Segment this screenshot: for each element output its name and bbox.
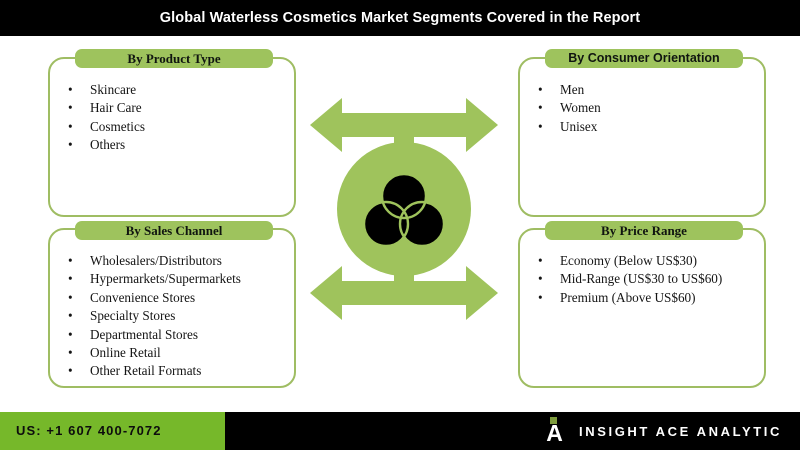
bullet-icon: • <box>68 118 73 136</box>
list-item-label: Wholesalers/Distributors <box>90 253 222 268</box>
page-title: Global Waterless Cosmetics Market Segmen… <box>0 0 800 36</box>
bullet-icon: • <box>538 81 543 99</box>
segment-header-price-range: By Price Range <box>545 221 743 240</box>
list-item: •Wholesalers/Distributors <box>64 252 288 270</box>
sales-channel-list: •Wholesalers/Distributors •Hypermarkets/… <box>64 252 288 381</box>
list-item-label: Skincare <box>90 82 136 97</box>
list-item-label: Unisex <box>560 119 597 134</box>
list-item-label: Economy (Below US$30) <box>560 253 697 268</box>
list-item: •Premium (Above US$60) <box>534 289 758 307</box>
footer-phone-number: US: +1 607 400-7072 <box>0 412 225 450</box>
segment-header-consumer-orientation: By Consumer Orientation <box>545 49 743 68</box>
bullet-icon: • <box>538 270 543 288</box>
list-item-label: Premium (Above US$60) <box>560 290 696 305</box>
list-item-label: Cosmetics <box>90 119 145 134</box>
bullet-icon: • <box>68 252 73 270</box>
bullet-icon: • <box>68 136 73 154</box>
list-item-label: Departmental Stores <box>90 327 198 342</box>
brand-name: INSIGHT ACE ANALYTIC <box>579 424 782 439</box>
footer-bar: US: +1 607 400-7072 A INSIGHT ACE ANALYT… <box>0 412 800 450</box>
brand-logo: A INSIGHT ACE ANALYTIC <box>544 412 782 450</box>
bullet-icon: • <box>538 99 543 117</box>
segment-header-sales-channel: By Sales Channel <box>75 221 273 240</box>
segment-header-product-type: By Product Type <box>75 49 273 68</box>
bullet-icon: • <box>68 344 73 362</box>
bullet-icon: • <box>68 270 73 288</box>
center-hub <box>300 88 508 330</box>
bullet-icon: • <box>538 289 543 307</box>
list-item: •Other Retail Formats <box>64 362 288 380</box>
consumer-orientation-list: •Men •Women •Unisex <box>534 81 758 136</box>
list-item: •Specialty Stores <box>64 307 288 325</box>
segment-card-product-type: •Skincare •Hair Care •Cosmetics •Others <box>48 57 296 217</box>
list-item-label: Women <box>560 100 601 115</box>
list-item: •Economy (Below US$30) <box>534 252 758 270</box>
list-item: •Skincare <box>64 81 288 99</box>
bullet-icon: • <box>68 307 73 325</box>
list-item-label: Others <box>90 137 125 152</box>
price-range-list: •Economy (Below US$30) •Mid-Range (US$30… <box>534 252 758 307</box>
bullet-icon: • <box>538 118 543 136</box>
list-item: •Unisex <box>534 118 758 136</box>
bullet-icon: • <box>68 326 73 344</box>
bullet-icon: • <box>68 81 73 99</box>
list-item-label: Hair Care <box>90 100 142 115</box>
list-item-label: Men <box>560 82 584 97</box>
bullet-icon: • <box>538 252 543 270</box>
list-item-label: Other Retail Formats <box>90 363 201 378</box>
list-item-label: Online Retail <box>90 345 161 360</box>
infographic-canvas: Global Waterless Cosmetics Market Segmen… <box>0 0 800 450</box>
bullet-icon: • <box>68 362 73 380</box>
list-item: •Convenience Stores <box>64 289 288 307</box>
brand-mark-icon: A <box>544 417 565 445</box>
list-item-label: Specialty Stores <box>90 308 175 323</box>
bullet-icon: • <box>68 289 73 307</box>
bullet-icon: • <box>68 99 73 117</box>
list-item: •Departmental Stores <box>64 326 288 344</box>
list-item: •Hypermarkets/Supermarkets <box>64 270 288 288</box>
brand-letter-a: A <box>544 422 565 445</box>
segment-card-consumer-orientation: •Men •Women •Unisex <box>518 57 766 217</box>
list-item: •Online Retail <box>64 344 288 362</box>
product-type-list: •Skincare •Hair Care •Cosmetics •Others <box>64 81 288 155</box>
list-item-label: Hypermarkets/Supermarkets <box>90 271 241 286</box>
list-item: •Mid-Range (US$30 to US$60) <box>534 270 758 288</box>
list-item: •Hair Care <box>64 99 288 117</box>
segment-card-price-range: •Economy (Below US$30) •Mid-Range (US$30… <box>518 228 766 388</box>
list-item: •Cosmetics <box>64 118 288 136</box>
list-item: •Others <box>64 136 288 154</box>
list-item-label: Convenience Stores <box>90 290 195 305</box>
list-item: •Women <box>534 99 758 117</box>
segment-card-sales-channel: •Wholesalers/Distributors •Hypermarkets/… <box>48 228 296 388</box>
list-item-label: Mid-Range (US$30 to US$60) <box>560 271 722 286</box>
list-item: •Men <box>534 81 758 99</box>
